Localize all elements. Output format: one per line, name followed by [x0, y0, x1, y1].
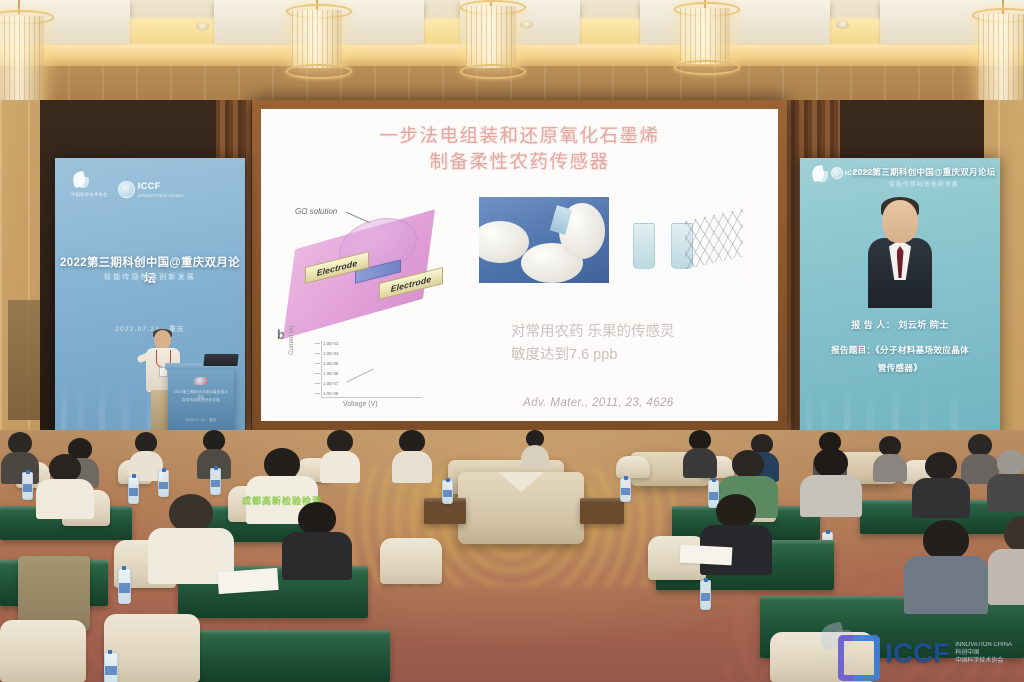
audience-person	[0, 432, 40, 482]
right-banner-title: 2022第三期科创中国@重庆双月论坛	[852, 166, 996, 178]
banner-logos: 中国科学技术协会 ICCF INNOVATION CHINA	[71, 172, 184, 198]
paper-handout	[217, 568, 278, 594]
audience-person	[912, 452, 970, 516]
water-bottle	[210, 468, 221, 495]
podium-logo-icon	[194, 377, 208, 385]
water-bottle	[104, 652, 118, 682]
iccf-watermark-text: ICCF	[885, 638, 950, 669]
photo-hands-device	[479, 197, 609, 283]
cast-bird-logo-icon	[71, 172, 91, 190]
right-banner-subtitle: 智能传感制造创新发展	[852, 180, 996, 188]
paper-handout	[680, 545, 733, 566]
water-bottle	[700, 580, 711, 610]
audience-person	[36, 454, 94, 514]
projection-screen-frame: 一步法电组装和还原氧化石墨烯 制备柔性农药传感器 b a a GO soluti…	[252, 100, 787, 430]
speaker-portrait	[857, 200, 943, 306]
ceiling-light-panel	[424, 18, 460, 44]
audience-person	[682, 430, 718, 478]
plot-ylabel: Current (A)	[289, 325, 295, 355]
photo-vials-lattice	[619, 197, 747, 283]
audience-person	[800, 448, 862, 514]
iccf-watermark: ICCF INNOVATION CHINA 科创中国 中国科学技术协会	[838, 632, 1012, 674]
audience-person	[148, 494, 234, 578]
cast-bird-logo-icon	[810, 166, 825, 179]
water-bottle	[158, 470, 169, 497]
ceiling-light-panel	[580, 18, 640, 44]
iccf-hex-logo-icon	[838, 632, 880, 674]
chair	[380, 538, 442, 584]
iccf-logo-text: ICCF	[138, 181, 184, 191]
cast-logo-caption: 中国科学技术协会	[71, 192, 108, 198]
slide-title: 一步法电组装和还原氧化石墨烯 制备柔性农药传感器	[261, 123, 778, 176]
right-banner: ICCF2022 2022第三期科创中国@重庆双月论坛 智能传感制造创新发展 报…	[800, 158, 1000, 458]
podium-date: 2022.07.22 · 重庆	[172, 418, 230, 423]
speaker-name-label: 报 告 人： 刘云圻 院士	[810, 318, 990, 331]
downlight-icon	[520, 20, 533, 29]
device-schematic: GO solution Electrode Electrode	[283, 207, 468, 322]
podium-subtitle: 智能传感制造创新发展	[172, 398, 230, 403]
audience-person	[282, 502, 352, 576]
iccf-logo-sub: INNOVATION CHINA	[138, 193, 184, 198]
audience-person	[904, 520, 988, 610]
audience-person	[520, 430, 550, 466]
topic-line2: 管传感器》	[810, 362, 990, 374]
iccf-logo-icon	[118, 181, 135, 198]
audience-person	[320, 430, 360, 482]
chair	[616, 456, 650, 478]
conference-photo: 一步法电组装和还原氧化石墨烯 制备柔性农药传感器 b a a GO soluti…	[0, 0, 1024, 682]
side-table	[580, 498, 624, 524]
audience-person	[872, 436, 908, 482]
audience-person	[392, 430, 432, 482]
audience-person	[988, 450, 1024, 510]
audience-person	[988, 516, 1024, 602]
plot-xlabel: Voltage (V)	[343, 401, 378, 408]
laptop-icon	[203, 354, 238, 366]
left-banner-subtitle: 智能传感制造创新发展	[55, 272, 245, 282]
water-bottle	[442, 480, 453, 504]
graphene-lattice-icon	[685, 209, 743, 269]
slide-citation: Adv. Mater., 2011, 23, 4626	[523, 397, 674, 409]
water-bottle	[118, 568, 131, 604]
water-bottle	[22, 472, 33, 500]
chair	[104, 614, 200, 682]
projection-screen: 一步法电组装和还原氧化石墨烯 制备柔性农药传感器 b a a GO soluti…	[261, 109, 778, 421]
slide-body-text: 对常用农药 乐果的传感灵 敏度达到7.6 ppb	[511, 321, 761, 368]
water-bottle	[128, 476, 139, 504]
iccf-watermark-sub: INNOVATION CHINA 科创中国 中国科学技术协会	[955, 641, 1012, 665]
iv-plot: Current (A) 1.0E-03 1.0E-04 1.0E-05 1.0E…	[299, 341, 427, 403]
go-solution-label: GO solution	[295, 207, 337, 216]
downlight-icon	[196, 22, 209, 31]
iccf-logo-icon	[831, 167, 843, 179]
water-bottle	[620, 478, 631, 502]
chair	[0, 620, 86, 682]
downlight-icon	[836, 20, 849, 29]
topic-line1: 报告题目：《分子材料基场效应晶体	[810, 344, 990, 356]
